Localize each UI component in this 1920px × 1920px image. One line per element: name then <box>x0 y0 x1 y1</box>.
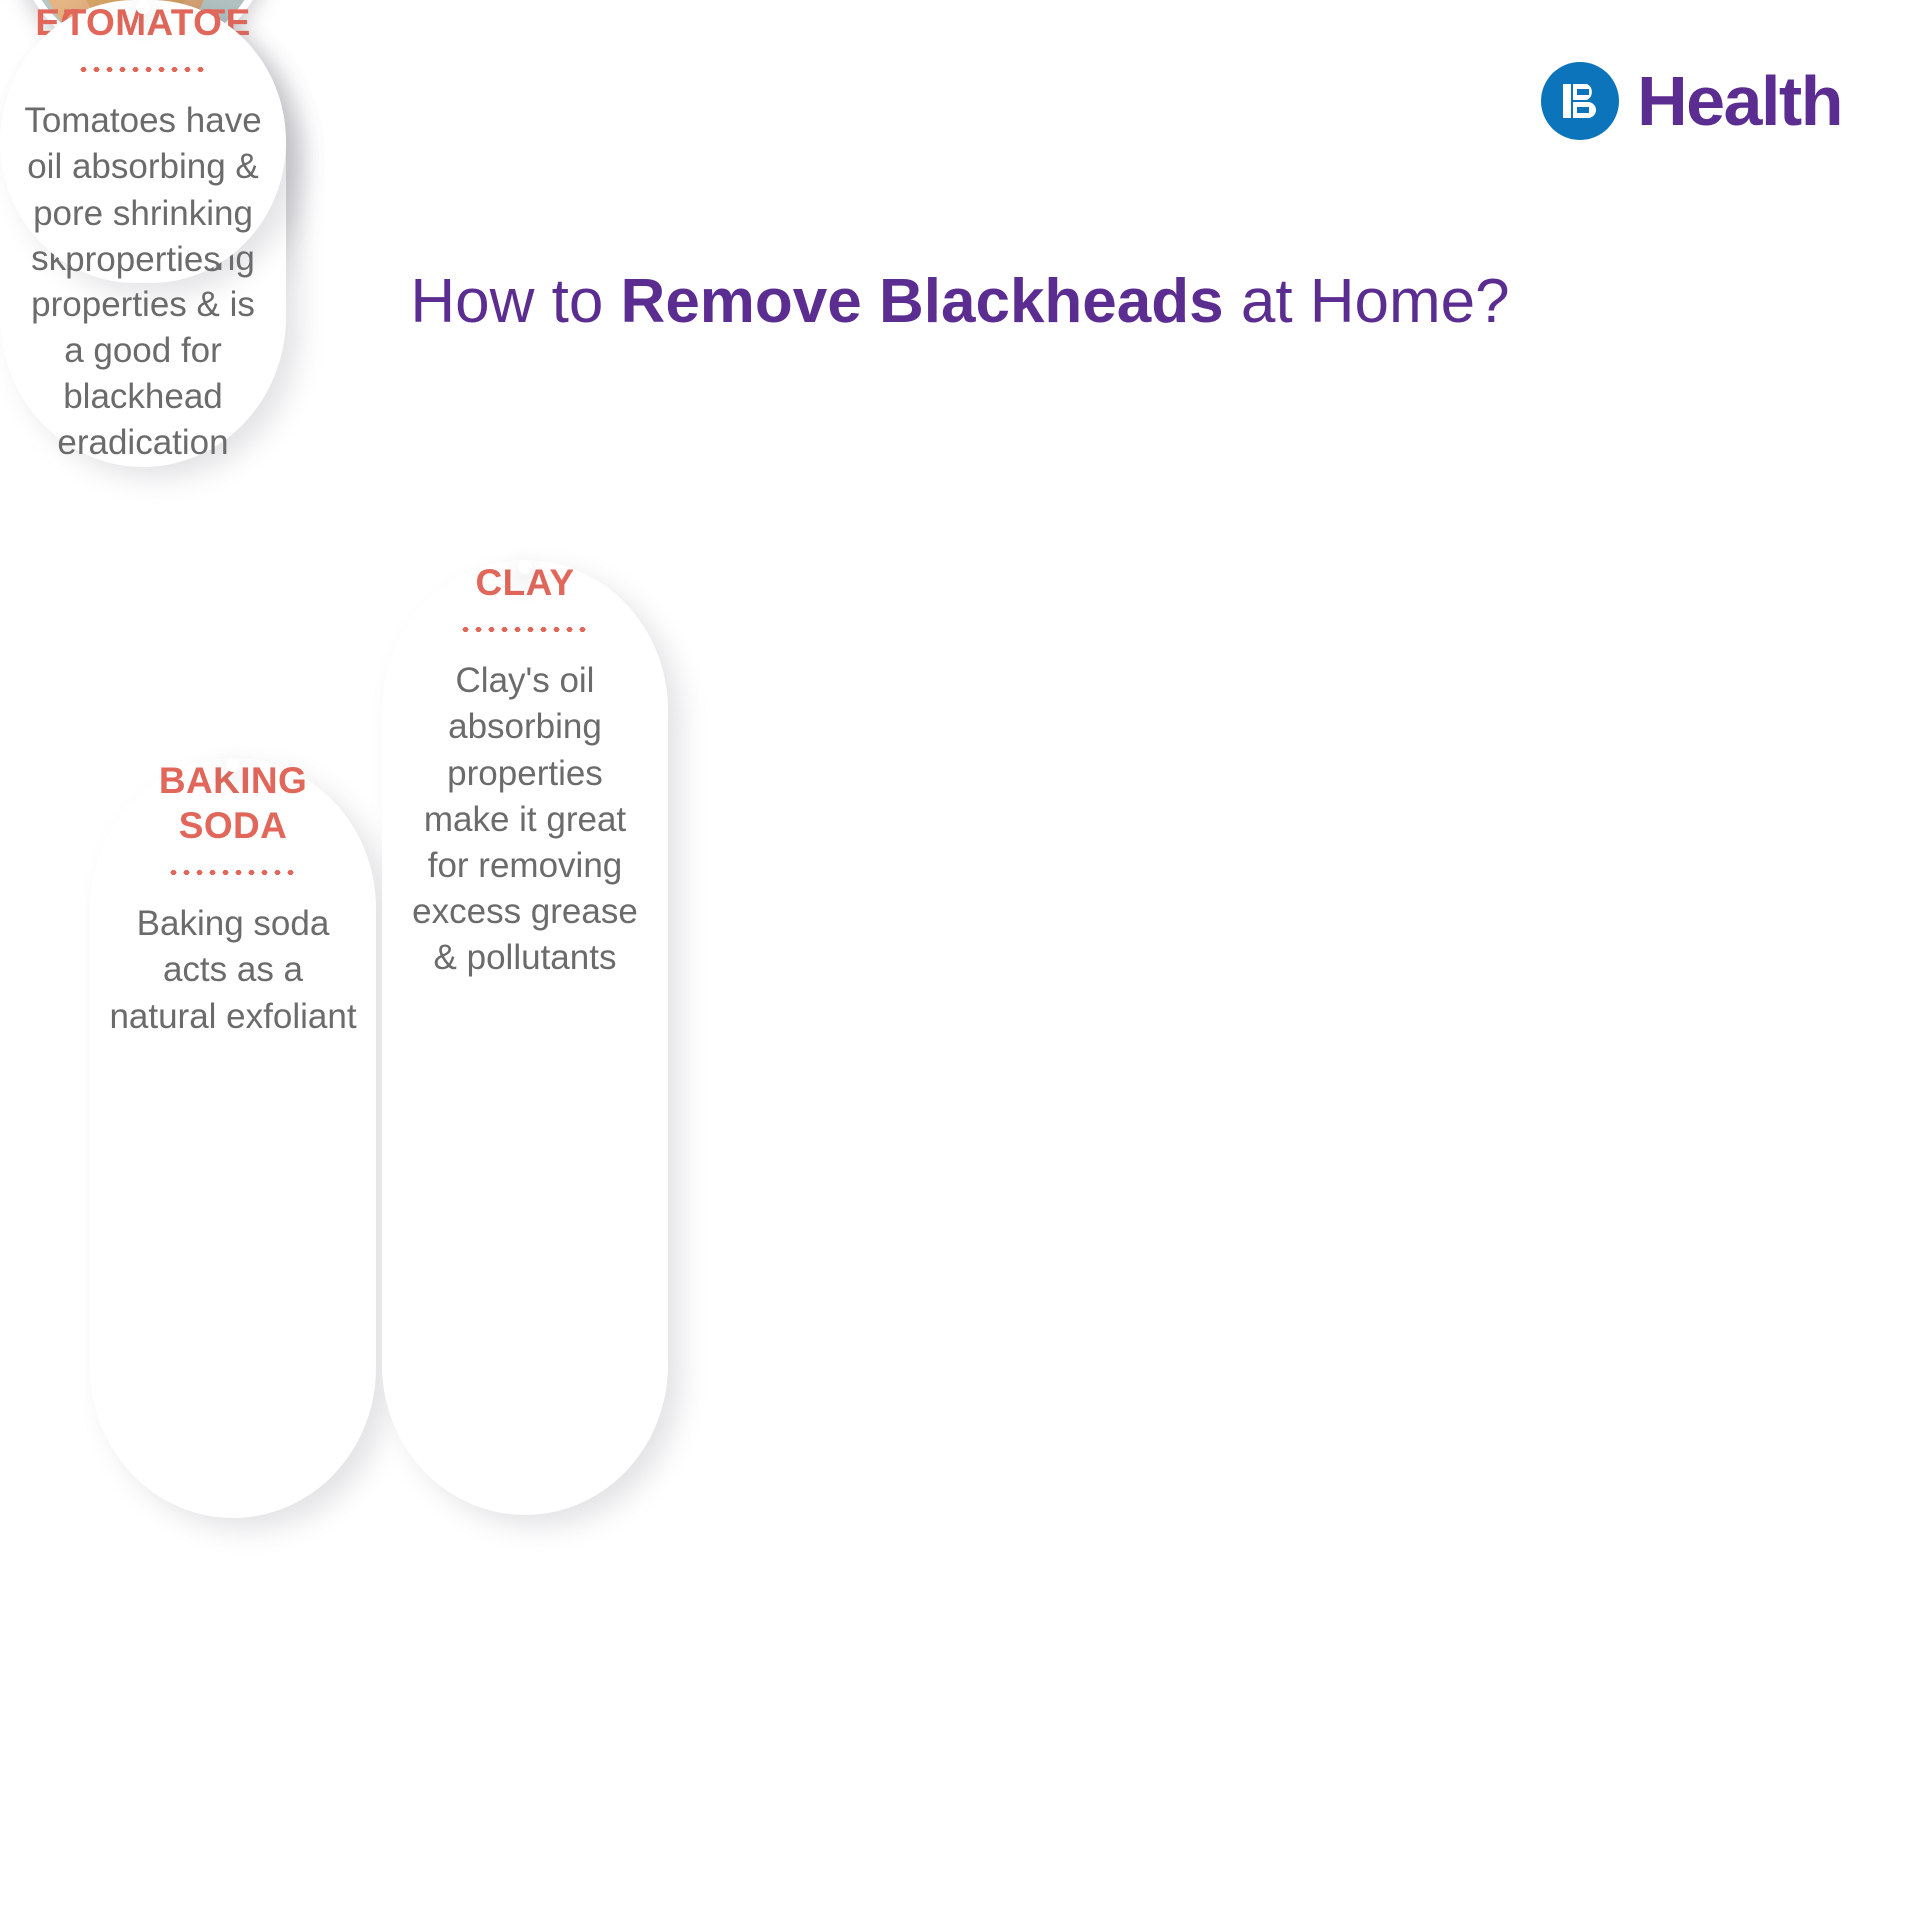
remedy-card-baking-soda: BAKING SODA Baking soda acts as a natura… <box>90 758 376 1518</box>
infographic-page: Health How to Remove Blackheads at Home? <box>0 0 1920 1920</box>
remedy-card-tomato: TOMATO Tomatoes have oil absorbing & por… <box>0 0 286 283</box>
remedy-card-clay: CLAY Clay's oil absorbing properties mak… <box>382 560 668 1515</box>
dotted-divider <box>459 627 591 632</box>
clay-mask-photo <box>518 560 532 574</box>
remedy-card-deck: BAKING SODA Baking soda acts as a natura… <box>0 0 1920 1920</box>
baking-soda-photo <box>226 758 240 772</box>
card-text: Clay's oil absorbing properties make it … <box>400 658 650 981</box>
card-text: Tomatoes have oil absorbing & pore shrin… <box>18 98 268 283</box>
dotted-divider <box>77 67 209 72</box>
dotted-divider <box>167 870 299 875</box>
card-text: Baking soda acts as a natural exfoliant <box>108 901 358 1040</box>
tomato-mask-photo <box>136 0 150 14</box>
